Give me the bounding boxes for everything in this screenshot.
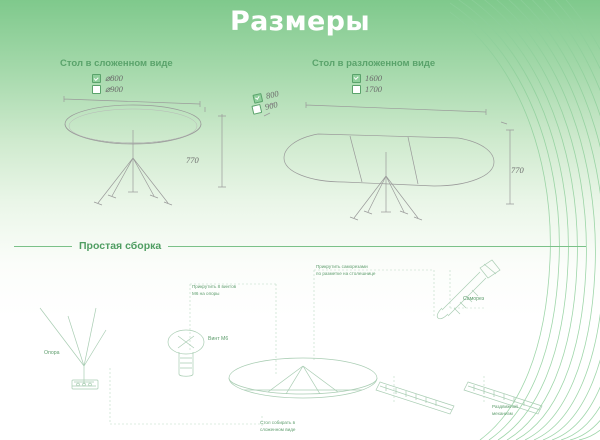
part-label-vint-m6: Винт М6 [208, 336, 228, 342]
rule-left [14, 246, 72, 247]
assembly-section-heading: Простая сборка [79, 240, 161, 252]
part-label-samorez: Саморез [463, 296, 484, 302]
instruction-sheet: Размеры Стол в сложенном виде Стол в раз… [0, 0, 600, 440]
rule-right [168, 246, 586, 247]
part-label-opora: Опора [44, 350, 60, 356]
note-attach-screws: Прикрутить 8 винтов М6 на опоры [192, 284, 236, 298]
assembly-heading-row: Простая сборка [14, 240, 586, 252]
unfolded-section-heading: Стол в разложенном виде [312, 58, 435, 69]
page-title: Размеры [0, 6, 600, 37]
folded-table-drawing [50, 62, 250, 222]
note-sliding-mechanism: Раздвижной механизм [492, 404, 518, 418]
note-attach-selftapping: Прикрутить саморезами по разметке на сто… [316, 264, 375, 278]
note-assemble-folded: Стол собирать в сложенном виде [260, 420, 295, 434]
unfolded-table-drawing [258, 72, 528, 232]
